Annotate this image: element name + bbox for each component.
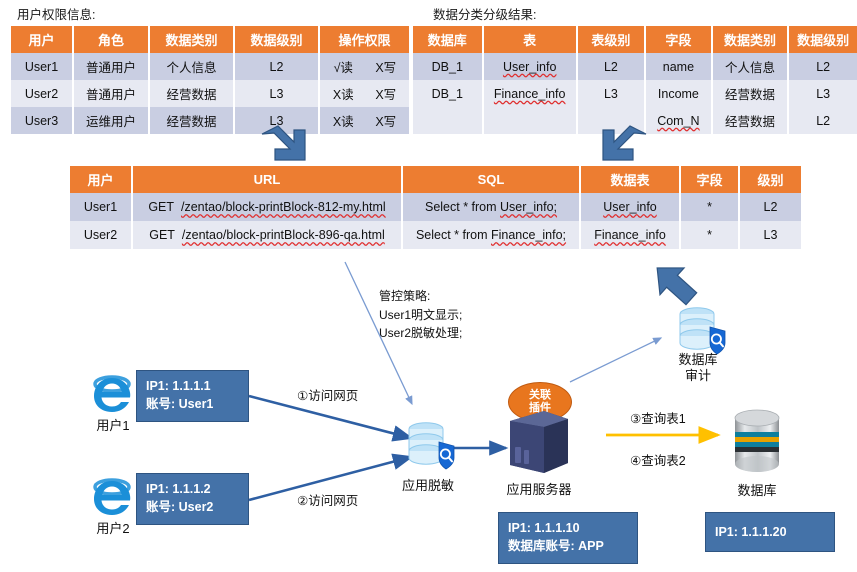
classification-table-wrap: 数据库 表 表级别 字段 数据类别 数据级别 DB_1 User_info L2… bbox=[413, 26, 857, 134]
audit-col-url: URL bbox=[132, 166, 402, 193]
audit-cell-field: * bbox=[680, 193, 739, 221]
database-audit-shield-icon bbox=[673, 305, 728, 357]
classification-cell-level: L2 bbox=[788, 107, 857, 134]
permission-read: X读 bbox=[322, 84, 365, 103]
audit-sql-table: User_info; bbox=[500, 200, 557, 214]
classification-cell-level: L2 bbox=[788, 53, 857, 80]
classification-table: 数据库 表 表级别 字段 数据类别 数据级别 DB_1 User_info L2… bbox=[413, 26, 857, 134]
database-info-box: IP1: 1.1.1.20 bbox=[705, 512, 835, 552]
user1-label: 用户1 bbox=[83, 418, 143, 434]
audit-url-method: GET bbox=[148, 200, 174, 214]
step-3-label: ③查询表1 bbox=[630, 408, 686, 427]
user2-label: 用户2 bbox=[83, 521, 143, 537]
classification-col-db: 数据库 bbox=[413, 26, 483, 53]
app-server-label: 应用服务器 bbox=[499, 482, 579, 498]
step-1-label: ①访问网页 bbox=[297, 385, 358, 404]
step-4-label: ④查询表2 bbox=[630, 450, 686, 469]
classification-cell-category: 经营数据 bbox=[712, 80, 789, 107]
classification-cell-db: DB_1 bbox=[413, 80, 483, 107]
classification-cell-category: 个人信息 bbox=[712, 53, 789, 80]
classification-col-level: 数据级别 bbox=[788, 26, 857, 53]
masking-database-shield-icon bbox=[402, 420, 457, 472]
classification-cell-table-level: L3 bbox=[577, 80, 645, 107]
permission-cell-role: 普通用户 bbox=[73, 80, 149, 107]
audit-cell-url: GET /zentao/block-printBlock-812-my.html bbox=[132, 193, 402, 221]
audit-cell-user: User2 bbox=[70, 221, 132, 249]
audit-cell-url: GET /zentao/block-printBlock-896-qa.html bbox=[132, 221, 402, 249]
audit-col-field: 字段 bbox=[680, 166, 739, 193]
down-right-arrow-icon bbox=[258, 126, 308, 168]
permission-read: √读 bbox=[322, 57, 365, 76]
permission-cell-level: L2 bbox=[234, 53, 319, 80]
app-server-icon bbox=[506, 405, 572, 477]
classification-col-table-level: 表级别 bbox=[577, 26, 645, 53]
permission-table: 用户 角色 数据类别 数据级别 操作权限 User1 普通用户 个人信息 L2 … bbox=[11, 26, 409, 134]
app-server-db-account: 数据库账号: APP bbox=[508, 537, 628, 555]
classification-cell-field: Income bbox=[645, 80, 712, 107]
permission-col-level: 数据级别 bbox=[234, 26, 319, 53]
table-row: User3 运维用户 经营数据 L3 X读X写 bbox=[11, 107, 409, 134]
audit-col-user: 用户 bbox=[70, 166, 132, 193]
permission-col-role: 角色 bbox=[73, 26, 149, 53]
table-row: User1 GET /zentao/block-printBlock-812-m… bbox=[70, 193, 801, 221]
permission-cell-operation: √读X写 bbox=[319, 53, 409, 80]
audit-col-sql: SQL bbox=[402, 166, 580, 193]
permission-cell-category: 经营数据 bbox=[149, 80, 234, 107]
database-ip: IP1: 1.1.1.20 bbox=[715, 523, 787, 541]
permission-cell-category: 个人信息 bbox=[149, 53, 234, 80]
table-row: User1 普通用户 个人信息 L2 √读X写 bbox=[11, 53, 409, 80]
classification-cell-table-level: L2 bbox=[577, 53, 645, 80]
classification-cell-db bbox=[413, 107, 483, 134]
masking-node-label: 应用脱敏 bbox=[388, 478, 468, 494]
user2-ip: IP1: 1.1.1.2 bbox=[146, 480, 239, 498]
database-audit-label-line2: 审计 bbox=[658, 368, 738, 384]
permission-cell-operation: X读X写 bbox=[319, 107, 409, 134]
audit-sql-prefix: Select * from bbox=[416, 228, 488, 242]
classification-table-caption: 数据分类分级结果: bbox=[433, 4, 536, 23]
audit-cell-table: User_info bbox=[580, 193, 680, 221]
permission-cell-category: 经营数据 bbox=[149, 107, 234, 134]
permission-table-wrap: 用户 角色 数据类别 数据级别 操作权限 User1 普通用户 个人信息 L2 … bbox=[11, 26, 409, 134]
table-row: DB_1 User_info L2 name 个人信息 L2 bbox=[413, 53, 857, 80]
audit-cell-level: L2 bbox=[739, 193, 801, 221]
up-left-arrow-icon bbox=[645, 258, 705, 310]
classification-col-field: 字段 bbox=[645, 26, 712, 53]
app-server-info-box: IP1: 1.1.1.10 数据库账号: APP bbox=[498, 512, 638, 564]
classification-cell-db: DB_1 bbox=[413, 53, 483, 80]
app-server-ip: IP1: 1.1.1.10 bbox=[508, 519, 628, 537]
user1-ip: IP1: 1.1.1.1 bbox=[146, 377, 239, 395]
audit-col-table: 数据表 bbox=[580, 166, 680, 193]
table-row: DB_1 Finance_info L3 Income 经营数据 L3 bbox=[413, 80, 857, 107]
step-2-label: ②访问网页 bbox=[297, 490, 358, 509]
permission-cell-level: L3 bbox=[234, 80, 319, 107]
ie-browser-icon bbox=[88, 475, 136, 521]
permission-write: X写 bbox=[365, 84, 408, 103]
permission-write: X写 bbox=[365, 111, 408, 130]
audit-url-path: /zentao/block-printBlock-896-qa.html bbox=[182, 228, 385, 242]
permission-cell-user: User1 bbox=[11, 53, 73, 80]
audit-cell-sql: Select * from User_info; bbox=[402, 193, 580, 221]
permission-cell-user: User3 bbox=[11, 107, 73, 134]
down-left-arrow-icon bbox=[600, 126, 650, 168]
audit-sql-prefix: Select * from bbox=[425, 200, 497, 214]
permission-cell-role: 运维用户 bbox=[73, 107, 149, 134]
table-row: User2 GET /zentao/block-printBlock-896-q… bbox=[70, 221, 801, 249]
user2-info-box: IP1: 1.1.1.2 账号: User2 bbox=[136, 473, 249, 525]
audit-url-method: GET bbox=[149, 228, 175, 242]
policy-note: 管控策略: User1明文显示; User2脱敏处理; bbox=[379, 287, 462, 343]
classification-cell-field: name bbox=[645, 53, 712, 80]
classification-table-header-row: 数据库 表 表级别 字段 数据类别 数据级别 bbox=[413, 26, 857, 53]
audit-col-level: 级别 bbox=[739, 166, 801, 193]
audit-cell-user: User1 bbox=[70, 193, 132, 221]
audit-sql-table: Finance_info; bbox=[491, 228, 566, 242]
policy-note-line3: User2脱敏处理; bbox=[379, 324, 462, 343]
classification-cell-table: Finance_info bbox=[483, 80, 577, 107]
line-plugin-to-db-audit bbox=[570, 338, 661, 382]
classification-cell-table: User_info bbox=[483, 53, 577, 80]
audit-url-path: /zentao/block-printBlock-812-my.html bbox=[181, 200, 386, 214]
audit-cell-level: L3 bbox=[739, 221, 801, 249]
classification-cell-table bbox=[483, 107, 577, 134]
ie-browser-icon bbox=[88, 372, 136, 418]
classification-cell-field: Com_N bbox=[645, 107, 712, 134]
user1-account: 账号: User1 bbox=[146, 395, 239, 413]
classification-cell-level: L3 bbox=[788, 80, 857, 107]
classification-col-table: 表 bbox=[483, 26, 577, 53]
audit-cell-sql: Select * from Finance_info; bbox=[402, 221, 580, 249]
database-icon bbox=[727, 406, 787, 478]
permission-cell-operation: X读X写 bbox=[319, 80, 409, 107]
policy-note-line1: 管控策略: bbox=[379, 287, 462, 306]
permission-table-header-row: 用户 角色 数据类别 数据级别 操作权限 bbox=[11, 26, 409, 53]
permission-col-user: 用户 bbox=[11, 26, 73, 53]
permission-cell-user: User2 bbox=[11, 80, 73, 107]
database-audit-label: 数据库 审计 bbox=[658, 352, 738, 385]
user2-account: 账号: User2 bbox=[146, 498, 239, 516]
plugin-label-line1: 关联 bbox=[529, 389, 551, 401]
table-row: User2 普通用户 经营数据 L3 X读X写 bbox=[11, 80, 409, 107]
policy-note-line2: User1明文显示; bbox=[379, 306, 462, 325]
database-label: 数据库 bbox=[717, 483, 797, 499]
audit-table-wrap: 用户 URL SQL 数据表 字段 级别 User1 GET /zentao/b… bbox=[70, 166, 801, 249]
audit-table: 用户 URL SQL 数据表 字段 级别 User1 GET /zentao/b… bbox=[70, 166, 801, 249]
permission-read: X读 bbox=[322, 111, 365, 130]
audit-cell-field: * bbox=[680, 221, 739, 249]
user1-info-box: IP1: 1.1.1.1 账号: User1 bbox=[136, 370, 249, 422]
permission-cell-role: 普通用户 bbox=[73, 53, 149, 80]
audit-table-header-row: 用户 URL SQL 数据表 字段 级别 bbox=[70, 166, 801, 193]
database-audit-label-line1: 数据库 bbox=[658, 352, 738, 368]
permission-col-operation: 操作权限 bbox=[319, 26, 409, 53]
permission-table-caption: 用户权限信息: bbox=[17, 4, 95, 23]
permission-write: X写 bbox=[365, 57, 408, 76]
audit-cell-table: Finance_info bbox=[580, 221, 680, 249]
permission-col-category: 数据类别 bbox=[149, 26, 234, 53]
classification-col-category: 数据类别 bbox=[712, 26, 789, 53]
classification-cell-category: 经营数据 bbox=[712, 107, 789, 134]
